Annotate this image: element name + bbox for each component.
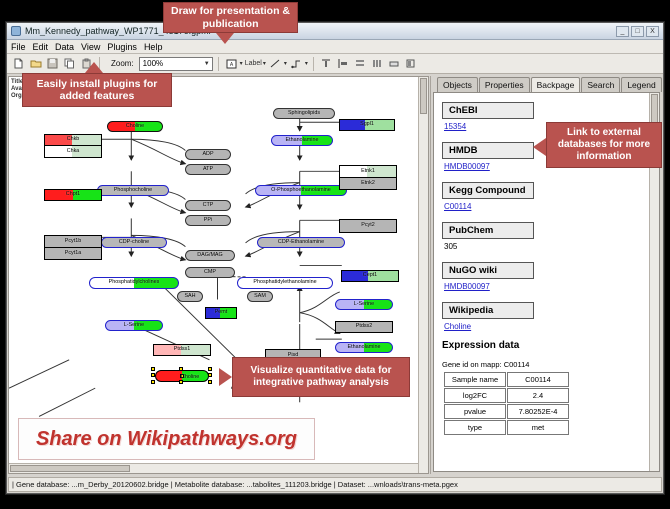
pathway-canvas[interactable]: Title: Availa Organ [8, 76, 429, 474]
callout-visualize: Visualize quantitative data for integrat… [232, 357, 410, 397]
window-controls[interactable]: _ □ X [616, 26, 659, 37]
group-icon[interactable] [387, 56, 402, 71]
node-phosphatidylethanolamine[interactable]: Phosphatidylethanolamine [237, 277, 333, 289]
node-l-serine-left[interactable]: L-Serine [105, 320, 163, 331]
status-bar: | Gene database: ...m_Derby_20120602.bri… [8, 477, 662, 492]
toolbar-separator [218, 57, 219, 71]
menu-edit[interactable]: Edit [33, 42, 49, 52]
chevron-down-icon[interactable]: ▾ [284, 60, 287, 67]
callout-plugins-arrow-icon [85, 62, 103, 73]
order-front-icon[interactable] [404, 56, 419, 71]
screenshot-root: Mm_Kennedy_pathway_WP1771_45176.gpml _ □… [0, 0, 670, 509]
callout-draw-arrow-icon [216, 33, 234, 44]
menu-bar: File Edit Data View Plugins Help [7, 40, 663, 54]
cell-key: Sample name [444, 372, 506, 387]
node-sah[interactable]: SAH [177, 291, 203, 302]
node-phosphocholine[interactable]: Phosphocholine [97, 185, 169, 196]
gene-chkb[interactable]: Chkb [45, 135, 101, 146]
callout-draw: Draw for presentation & publication [163, 2, 298, 33]
node-phosphatidylcholines[interactable]: Phosphatidylcholines [89, 277, 179, 289]
save-icon[interactable] [45, 56, 60, 71]
gene-sgpl1[interactable]: Sgpl1 [339, 119, 395, 131]
menu-plugins[interactable]: Plugins [107, 42, 137, 52]
gene-ptdss1[interactable]: Ptdss1 [153, 344, 211, 356]
line-icon[interactable] [268, 56, 283, 71]
line-tool[interactable]: ▾ [268, 56, 287, 71]
chevron-down-icon[interactable]: ▾ [305, 60, 308, 67]
section-header-nugo: NuGO wiki [442, 262, 534, 279]
cell-key: type [444, 420, 506, 435]
menu-data[interactable]: Data [55, 42, 74, 52]
cell-value: 7.80252E-4 [507, 404, 569, 419]
chevron-down-icon[interactable]: ▾ [240, 60, 243, 67]
node-ethanolamine-bottom[interactable]: Ethanolamine [335, 342, 393, 353]
gene-group-chk[interactable]: Chkb Chka [44, 134, 102, 158]
callout-link-arrow-icon [533, 138, 546, 156]
share-label: Share on Wikipathways.org [36, 428, 297, 451]
canvas-vertical-scrollbar[interactable] [418, 77, 428, 473]
align-top-icon[interactable] [319, 56, 334, 71]
gene-pcyt1a[interactable]: Pcyt1a [45, 248, 101, 259]
node-dag-mag[interactable]: DAG/MAG [185, 250, 235, 261]
callout-share: Share on Wikipathways.org [18, 418, 315, 460]
callout-visualize-arrow-icon [219, 368, 232, 386]
toolbar-separator [313, 57, 314, 71]
distribute-icon[interactable] [370, 56, 385, 71]
expression-table: Sample name C00114 log2FC 2.4 pvalue 7.8… [443, 371, 570, 436]
cell-key: pvalue [444, 404, 506, 419]
stack-icon[interactable] [353, 56, 368, 71]
datanode-icon[interactable]: A [224, 56, 239, 71]
label-tool-caption: Label [245, 60, 262, 67]
node-choline-top[interactable]: Choline [107, 121, 163, 132]
table-row: log2FC 2.4 [444, 388, 569, 403]
close-button[interactable]: X [646, 26, 659, 37]
menu-help[interactable]: Help [144, 42, 163, 52]
datanode-tool[interactable]: A ▾ [224, 56, 243, 71]
callout-plugins: Easily install plugins for added feature… [22, 73, 172, 107]
link-nugo[interactable]: HMDB00097 [444, 282, 651, 291]
gene-id-label: Gene id on mapp: C00114 [442, 360, 651, 369]
cell-value: 2.4 [507, 388, 569, 403]
node-cmp[interactable]: CMP [185, 267, 235, 278]
gene-cept1[interactable]: Cept1 [341, 270, 399, 282]
label-tool[interactable]: Label ▾ [245, 60, 266, 67]
section-header-pubchem: PubChem [442, 222, 534, 239]
node-ctp[interactable]: CTP [185, 200, 231, 211]
section-header-hmdb: HMDB [442, 142, 534, 159]
menu-file[interactable]: File [11, 42, 26, 52]
table-row: pvalue 7.80252E-4 [444, 404, 569, 419]
menu-view[interactable]: View [81, 42, 100, 52]
tab-backpage[interactable]: Backpage [531, 77, 581, 93]
minimize-button[interactable]: _ [616, 26, 629, 37]
table-row: Sample name C00114 [444, 372, 569, 387]
maximize-button[interactable]: □ [631, 26, 644, 37]
title-bar: Mm_Kennedy_pathway_WP1771_45176.gpml _ □… [7, 23, 663, 40]
connector-tool[interactable]: ▾ [289, 56, 308, 71]
cell-value: met [507, 420, 569, 435]
tab-search[interactable]: Search [581, 77, 620, 92]
gene-chka[interactable]: Chka [45, 146, 101, 157]
expression-data-title: Expression data [442, 340, 651, 351]
gene-ptdss2[interactable]: Ptdss2 [335, 321, 393, 333]
node-sphingolipids[interactable]: Sphingolipids [273, 108, 335, 119]
callout-link: Link to external databases for more info… [546, 122, 662, 168]
gene-group-pcyt1[interactable]: Pcyt1b Pcyt1a [44, 235, 102, 260]
tab-legend[interactable]: Legend [621, 77, 661, 92]
chevron-down-icon[interactable]: ▼ [204, 61, 210, 67]
node-atp[interactable]: ATP [185, 164, 231, 175]
node-cdp-ethanolamine[interactable]: CDP-Ethanolamine [257, 237, 345, 248]
tab-objects[interactable]: Objects [437, 77, 478, 92]
scrollbar-thumb[interactable] [420, 78, 427, 114]
gene-chpt1[interactable]: Chpt1 [44, 189, 102, 201]
zoom-value: 100% [143, 59, 163, 68]
app-icon [11, 26, 21, 36]
value-pubchem: 305 [444, 242, 651, 251]
toolbar: Zoom: 100% ▼ A ▾ Label ▾ ▾ [7, 54, 663, 74]
gene-pcyt2[interactable]: Pcyt2 [339, 219, 397, 233]
gene-pemt[interactable]: Pemt [205, 307, 237, 319]
connector-icon[interactable] [289, 56, 304, 71]
new-file-icon[interactable] [11, 56, 26, 71]
sidebar-tabs: Objects Properties Backpage Search Legen… [431, 76, 662, 92]
selection-handles[interactable]: Choline [151, 367, 213, 384]
gene-pcyt1b[interactable]: Pcyt1b [45, 236, 101, 248]
node-l-serine-right[interactable]: L-Serine [335, 299, 393, 310]
zoom-label: Zoom: [111, 59, 134, 68]
gene-etnk1[interactable]: Etnk1 [340, 166, 396, 178]
table-row: type met [444, 420, 569, 435]
zoom-combo[interactable]: 100% ▼ [139, 57, 213, 71]
status-text: | Gene database: ...m_Derby_20120602.bri… [12, 480, 458, 489]
cell-key: log2FC [444, 388, 506, 403]
chevron-down-icon[interactable]: ▾ [263, 60, 266, 67]
node-ppi[interactable]: PPi [185, 215, 231, 226]
cell-value: C00114 [507, 372, 569, 387]
node-adp[interactable]: ADP [185, 149, 231, 160]
align-left-icon[interactable] [336, 56, 351, 71]
open-folder-icon[interactable] [28, 56, 43, 71]
canvas-horizontal-scrollbar[interactable] [9, 463, 418, 473]
section-header-wikipedia: Wikipedia [442, 302, 534, 319]
link-kegg[interactable]: C00114 [444, 202, 651, 211]
section-header-kegg: Kegg Compound [442, 182, 534, 199]
section-header-chebi: ChEBI [442, 102, 534, 119]
node-sam[interactable]: SAM [247, 291, 273, 302]
node-ethanolamine[interactable]: Ethanolamine [271, 135, 333, 146]
gene-group-etnk[interactable]: Etnk1 Etnk2 [339, 165, 397, 190]
gene-etnk2[interactable]: Etnk2 [340, 178, 396, 189]
tab-properties[interactable]: Properties [479, 77, 530, 92]
node-o-phosphoethanolamine[interactable]: O-Phosphoethanolamine [255, 185, 347, 196]
scrollbar-thumb[interactable] [10, 465, 130, 472]
node-cdp-choline[interactable]: CDP-choline [101, 237, 167, 248]
link-wikipedia[interactable]: Choline [444, 322, 651, 331]
copy-icon[interactable] [62, 56, 77, 71]
